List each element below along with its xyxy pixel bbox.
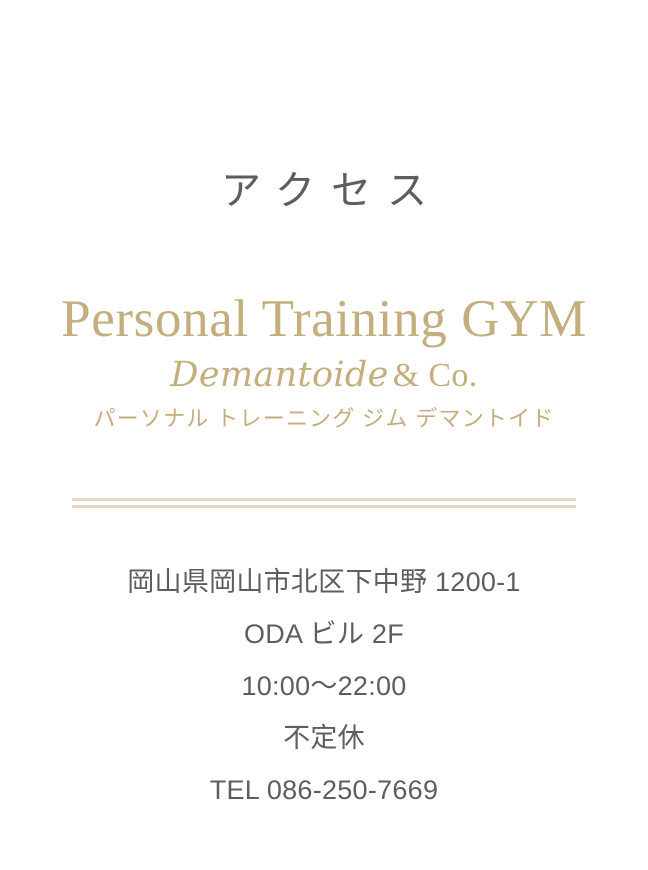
brand-name-english: Personal Training GYM [0,288,648,350]
divider [72,498,576,507]
divider-rule-top [72,498,576,501]
brand-name-kana: パーソナル トレーニング ジム デマントイド [0,404,648,434]
info-telephone: TEL 086-250-7669 [0,764,648,816]
info-holiday: 不定休 [0,712,648,764]
brand-script-name: Demantoide [170,355,392,395]
access-page: アクセス Personal Training GYM Demantoide& C… [0,0,648,870]
page-title: アクセス [0,164,648,218]
brand-block: Personal Training GYM Demantoide& Co. パー… [0,288,648,434]
access-info-block: 岡山県岡山市北区下中野 1200-1 ODA ビル 2F 10:00〜22:00… [0,556,648,816]
info-hours: 10:00〜22:00 [0,660,648,712]
divider-rule-bottom [72,505,576,508]
info-address: 岡山県岡山市北区下中野 1200-1 [0,556,648,608]
info-building: ODA ビル 2F [0,608,648,660]
brand-suffix: & Co. [393,357,478,394]
brand-name-script-line: Demantoide& Co. [0,354,648,397]
